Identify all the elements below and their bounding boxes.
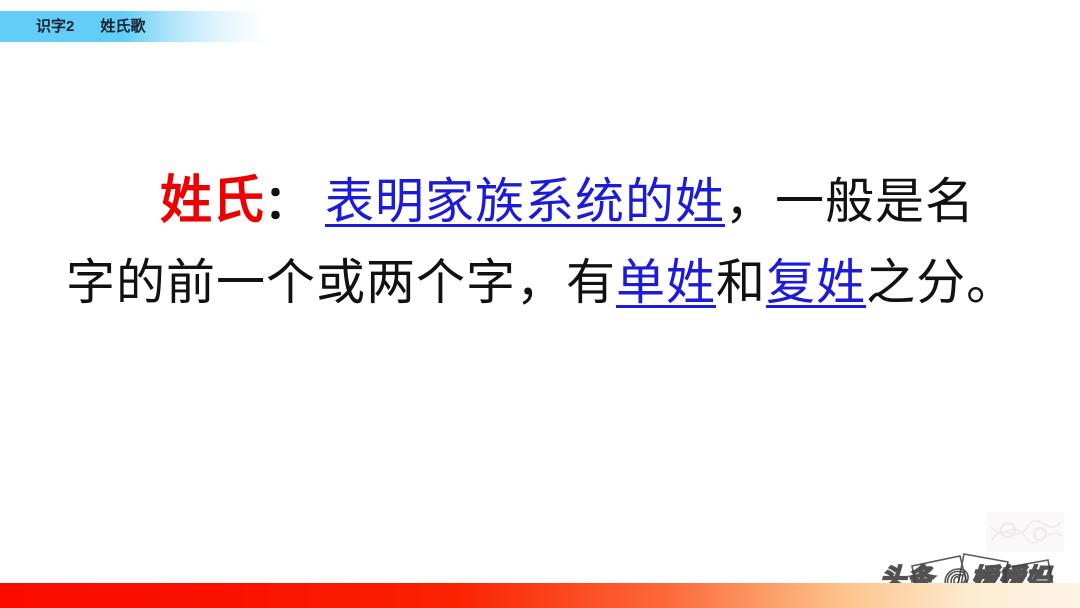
body-text-line-2: 字的前一个或两个字，有单姓和复姓之分。 bbox=[66, 242, 1018, 324]
colon-separator: ： bbox=[264, 175, 311, 229]
slide-header-bar: 识字2 姓氏歌 bbox=[0, 11, 268, 42]
term-fuxing-highlight: 复姓 bbox=[766, 254, 866, 311]
slide-footer-bar bbox=[0, 583, 1080, 608]
line-2-tail-text: 之分。 bbox=[866, 254, 1016, 311]
slide-canvas: 识字2 姓氏歌 姓氏：表明家族系统的姓，一般是名 字的前一个或两个字，有单姓和复… bbox=[0, 0, 1080, 608]
definition-phrase-highlight: 表明家族系统的姓 bbox=[325, 173, 725, 230]
body-text-line-1: 姓氏：表明家族系统的姓，一般是名 bbox=[66, 160, 1018, 242]
keyword-xingshi: 姓氏 bbox=[160, 171, 264, 231]
decorative-stamp-icon bbox=[986, 512, 1064, 552]
header-unit-label: 识字2 bbox=[36, 19, 74, 34]
line-2-lead-text: 字的前一个或两个字，有 bbox=[66, 254, 616, 311]
line-1-tail-text: ，一般是名 bbox=[725, 173, 975, 230]
conjunction-he: 和 bbox=[716, 254, 766, 311]
slide-body-text: 姓氏：表明家族系统的姓，一般是名 字的前一个或两个字，有单姓和复姓之分。 bbox=[66, 160, 1018, 324]
header-title-label: 姓氏歌 bbox=[100, 19, 145, 34]
term-danxing-highlight: 单姓 bbox=[616, 254, 716, 311]
